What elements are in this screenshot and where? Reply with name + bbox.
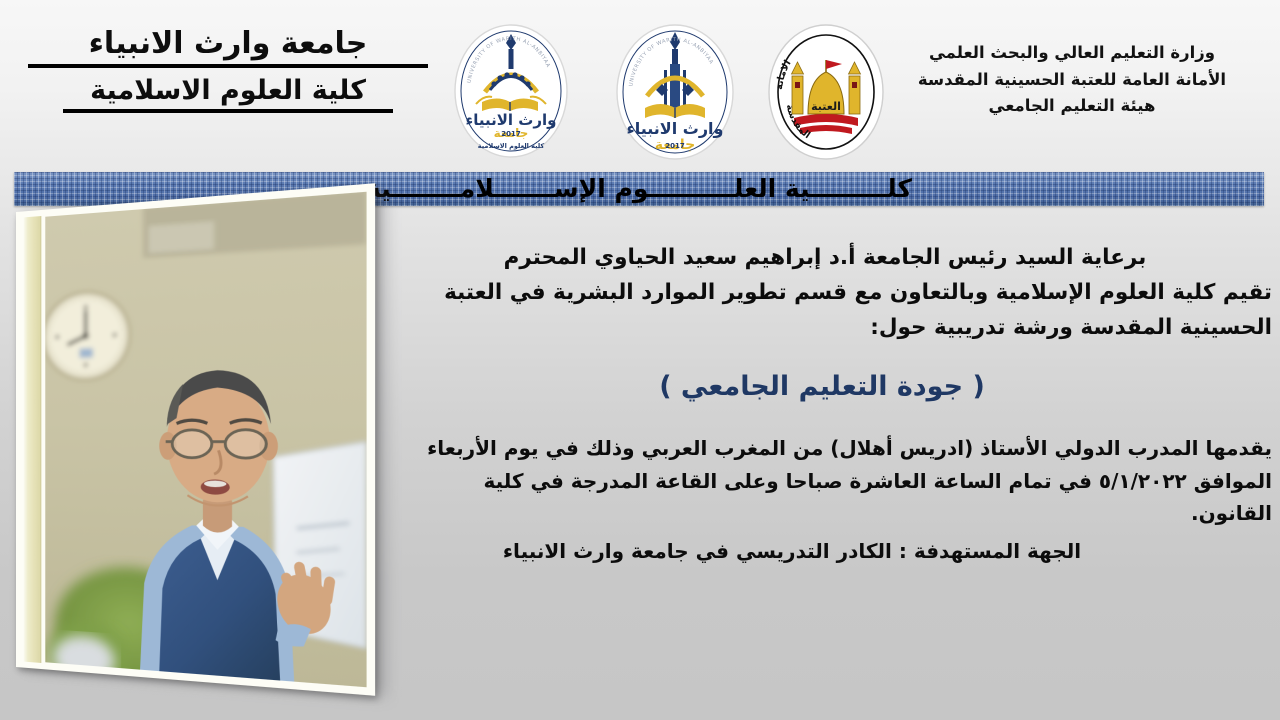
logo-row: وارث الانبياء جامعة 2017 كلية العلوم الا… — [444, 22, 904, 162]
photo-canvas-edge — [24, 216, 42, 663]
university-identity-block: جامعة وارث الانبياء كلية العلوم الاسلامي… — [28, 26, 428, 120]
intro-line-3: الحسينية المقدسة ورشة تدريبية حول: — [378, 310, 1272, 345]
details-line-2: الموافق ٥/١/٢٠٢٢ في تمام الساعة العاشرة … — [372, 465, 1272, 498]
workshop-title: ( جودة التعليم الجامعي ) — [372, 371, 1272, 402]
intro-line-1: برعاية السيد رئيس الجامعة أ.د إبراهيم سع… — [378, 240, 1272, 275]
college-name: كلية العلوم الاسلامية — [63, 75, 393, 113]
svg-text:2017: 2017 — [501, 130, 521, 138]
ministry-line-3: هيئة التعليم الجامعي — [886, 93, 1258, 120]
poster-header: جامعة وارث الانبياء كلية العلوم الاسلامي… — [0, 0, 1280, 168]
target-audience-line: الجهة المستهدفة : الكادر التدريسي في جام… — [372, 539, 1272, 563]
svg-text:العتبة: العتبة — [811, 100, 841, 113]
ministry-line-2: الأمانة العامة للعتبة الحسينية المقدسة — [886, 67, 1258, 94]
ministry-affiliation-block: وزارة التعليم العالي والبحث العلمي الأما… — [886, 40, 1258, 120]
intro-paragraph: برعاية السيد رئيس الجامعة أ.د إبراهيم سع… — [372, 240, 1272, 345]
holy-husseini-shrine-seal-icon: العتبة الامانة العامة المقدسة — [764, 22, 888, 162]
details-paragraph: يقدمها المدرب الدولي الأستاذ (ادريس أهلا… — [372, 432, 1272, 530]
poster-body: برعاية السيد رئيس الجامعة أ.د إبراهيم سع… — [372, 240, 1272, 563]
speaker-photo-frame — [10, 208, 370, 678]
university-name: جامعة وارث الانبياء — [28, 26, 428, 68]
svg-text:كلية العلوم الاسلامية: كلية العلوم الاسلامية — [478, 142, 545, 150]
details-line-3: القانون. — [372, 497, 1272, 530]
details-line-1: يقدمها المدرب الدولي الأستاذ (ادريس أهلا… — [372, 432, 1272, 465]
speaker-photo-image — [45, 192, 366, 688]
warith-al-anbiyaa-university-seal-icon: وارث الانبياء جامعة 2017 UNIVERSITY OF W… — [612, 22, 738, 162]
announcement-poster: جامعة وارث الانبياء كلية العلوم الاسلامي… — [0, 0, 1280, 720]
intro-line-2: تقيم كلية العلوم الإسلامية وبالتعاون مع … — [378, 275, 1272, 310]
svg-text:وارث الانبياء: وارث الانبياء — [627, 119, 724, 138]
warith-al-anbiyaa-university-islamic-sciences-seal-icon: وارث الانبياء جامعة 2017 كلية العلوم الا… — [452, 22, 570, 160]
ministry-line-1: وزارة التعليم العالي والبحث العلمي — [886, 40, 1258, 67]
photo-canvas-slab — [16, 183, 375, 696]
svg-text:2017: 2017 — [665, 142, 685, 150]
